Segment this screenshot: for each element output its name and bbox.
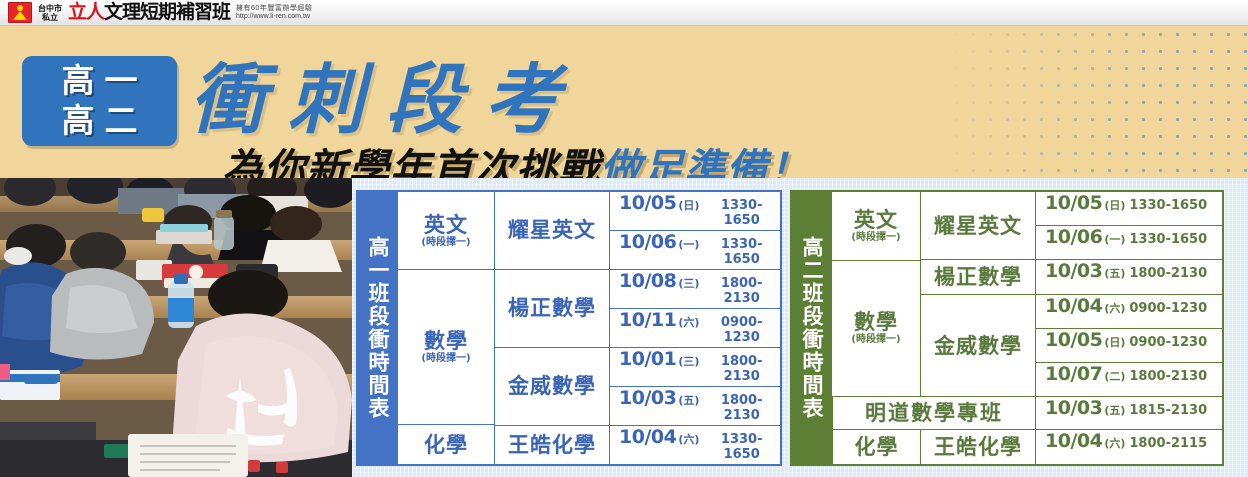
brand-tagline-block: 擁有60年豐富辦學經驗 http://www.li-ren.com.tw bbox=[236, 5, 312, 21]
page-title: 衝刺段考 bbox=[190, 54, 582, 146]
teacher-column-grade1: 耀星英文 楊正數學 金威數學 王皓化學 bbox=[494, 192, 609, 464]
time-value: 1330-1650 bbox=[1129, 232, 1207, 247]
schedule-row: 10/05 (日) 1330-1650 bbox=[609, 192, 780, 231]
subject-note: (時段擇一) bbox=[851, 334, 900, 346]
weekday-value: (六) bbox=[678, 431, 699, 447]
time-value: 1800-2130 bbox=[703, 276, 780, 306]
schedule-row: 10/01 (三) 1800-2130 bbox=[609, 348, 780, 387]
schedule-row: 10/03 (五) 1815-2130 bbox=[1035, 396, 1222, 430]
teacher-name: 耀星英文 bbox=[508, 218, 596, 242]
subject-cell: 英文 (時段擇一) bbox=[832, 192, 920, 261]
schedule-row: 10/07 (二) 1800-2130 bbox=[1035, 363, 1222, 396]
teacher-name: 耀星英文 bbox=[934, 214, 1022, 238]
subject-cell: 化學 bbox=[832, 430, 920, 464]
date-value: 10/06 bbox=[619, 231, 676, 253]
date-value: 10/07 bbox=[1045, 363, 1102, 385]
time-value: 0900-1230 bbox=[703, 315, 780, 345]
subject-name: 化學 bbox=[855, 435, 899, 459]
weekday-value: (六) bbox=[678, 314, 699, 330]
time-value: 1800-2130 bbox=[703, 354, 780, 384]
promo-poster: 台中市 私立 立人文理短期補習班 擁有60年豐富辦學經驗 http://www.… bbox=[0, 0, 1248, 477]
subject-column-grade1: 英文 (時段擇一) 數學 (時段擇一) 化學 bbox=[398, 192, 494, 464]
page-subtitle-black: 為你新學年首次挑戰 bbox=[222, 146, 600, 178]
schedule-row: 10/06 (一) 1330-1650 bbox=[1035, 226, 1222, 260]
schedule-grid-grade2: 英文 (時段擇一) 數學 (時段擇一) 耀星英文 楊正數學 bbox=[832, 192, 1222, 464]
schedule-table-grade2: 高二班段衝時間表 英文 (時段擇一) 數學 (時段擇一) bbox=[790, 190, 1224, 466]
weekday-value: (一) bbox=[678, 236, 699, 252]
schedule-row: 10/08 (三) 1800-2130 bbox=[609, 270, 780, 309]
date-value: 10/03 bbox=[1045, 260, 1102, 282]
date-value: 10/05 bbox=[619, 192, 676, 214]
weekday-value: (五) bbox=[678, 392, 699, 408]
teacher-cell: 楊正數學 bbox=[920, 260, 1035, 295]
subject-cell: 英文 (時段擇一) bbox=[398, 192, 494, 270]
teacher-cell: 金威數學 bbox=[494, 348, 609, 426]
teacher-name: 王皓化學 bbox=[934, 435, 1022, 459]
weekday-value: (日) bbox=[678, 197, 699, 213]
red-person-logo-icon bbox=[8, 2, 32, 23]
schedule-row: 10/05 (日) 1330-1650 bbox=[1035, 192, 1222, 226]
schedule-vertical-header-grade2: 高二班段衝時間表 bbox=[792, 192, 832, 464]
subject-name: 英文 bbox=[854, 208, 898, 232]
classroom-photo bbox=[0, 178, 352, 477]
subject-note: (時段擇一) bbox=[421, 237, 470, 249]
special-class-cell: 明道數學專班 bbox=[832, 396, 1035, 430]
brand-name-red: 立人 bbox=[68, 2, 104, 23]
schedule-row: 10/03 (五) 1800-2130 bbox=[1035, 260, 1222, 294]
date-value: 10/05 bbox=[1045, 329, 1102, 351]
date-value: 10/03 bbox=[619, 387, 676, 409]
time-value: 0900-1230 bbox=[1129, 335, 1207, 350]
brand-tagline: 擁有60年豐富辦學經驗 bbox=[236, 5, 312, 13]
schedule-vertical-header-grade1: 高一班段衝時間表 bbox=[358, 192, 398, 464]
schedule-row: 10/03 (五) 1800-2130 bbox=[609, 387, 780, 426]
grade-badge: 高一 高二 bbox=[22, 56, 177, 146]
date-value: 10/05 bbox=[1045, 192, 1102, 214]
date-value: 10/01 bbox=[619, 348, 676, 370]
weekday-value: (五) bbox=[1104, 265, 1125, 281]
subject-name: 數學 bbox=[424, 329, 468, 353]
grade-badge-line2: 高二 bbox=[52, 101, 148, 141]
weekday-value: (六) bbox=[1104, 435, 1125, 451]
brand-name-black: 文理短期補習班 bbox=[104, 2, 230, 23]
brand-city-block: 台中市 私立 bbox=[38, 4, 62, 22]
subject-name: 數學 bbox=[854, 310, 898, 334]
subject-name: 英文 bbox=[424, 213, 468, 237]
special-class-name: 明道數學專班 bbox=[865, 401, 1003, 425]
subject-note: (時段擇一) bbox=[851, 232, 900, 244]
time-value: 1815-2130 bbox=[1129, 403, 1207, 418]
time-value: 1330-1650 bbox=[703, 432, 780, 462]
teacher-name: 楊正數學 bbox=[508, 296, 596, 320]
schedule-grid-grade1: 英文 (時段擇一) 數學 (時段擇一) 化學 耀星英文 楊正數學 bbox=[398, 192, 780, 464]
grade-badge-line1: 高一 bbox=[52, 61, 148, 101]
schedule-table-grade1: 高一班段衝時間表 英文 (時段擇一) 數學 (時段擇一) 化學 耀星英文 bbox=[356, 190, 782, 466]
subject-note: (時段擇一) bbox=[421, 353, 470, 365]
weekday-value: (二) bbox=[1104, 368, 1125, 384]
teacher-column-grade2: 耀星英文 楊正數學 金威數學 bbox=[920, 192, 1035, 396]
weekday-value: (三) bbox=[678, 353, 699, 369]
date-value: 10/11 bbox=[619, 309, 676, 331]
page-subtitle: 為你新學年首次挑戰做足準備！ bbox=[222, 144, 810, 178]
subject-column-grade2: 英文 (時段擇一) 數學 (時段擇一) bbox=[832, 192, 920, 396]
time-value: 1800-2130 bbox=[703, 393, 780, 423]
weekday-value: (日) bbox=[1104, 197, 1125, 213]
teacher-cell: 耀星英文 bbox=[920, 192, 1035, 260]
brand-website-url[interactable]: http://www.li-ren.com.tw bbox=[236, 13, 312, 21]
teacher-name: 金威數學 bbox=[508, 374, 596, 398]
date-value: 10/06 bbox=[1045, 226, 1102, 248]
brand-city-line2: 私立 bbox=[38, 13, 62, 22]
brand-bar: 台中市 私立 立人文理短期補習班 擁有60年豐富辦學經驗 http://www.… bbox=[0, 0, 1248, 26]
page-subtitle-blue: 做足準備！ bbox=[600, 146, 810, 178]
subject-cell: 化學 bbox=[398, 425, 494, 464]
schedule-row: 10/06 (一) 1330-1650 bbox=[609, 231, 780, 270]
date-column-grade1: 10/05 (日) 1330-1650 10/06 (一) 1330-1650 … bbox=[609, 192, 780, 464]
weekday-value: (三) bbox=[678, 275, 699, 291]
weekday-value: (日) bbox=[1104, 334, 1125, 350]
time-value: 1330-1650 bbox=[703, 198, 780, 228]
schedule-row: 10/04 (六) 0900-1230 bbox=[1035, 295, 1222, 329]
teacher-cell: 金威數學 bbox=[920, 295, 1035, 396]
teacher-cell: 楊正數學 bbox=[494, 270, 609, 348]
time-value: 1330-1650 bbox=[1129, 198, 1207, 213]
schedule-row: 10/05 (日) 0900-1230 bbox=[1035, 329, 1222, 363]
time-value: 1800-2130 bbox=[1129, 369, 1207, 384]
date-value: 10/08 bbox=[619, 270, 676, 292]
time-value: 0900-1230 bbox=[1129, 301, 1207, 316]
teacher-name: 楊正數學 bbox=[934, 265, 1022, 289]
schedule-row: 10/04 (六) 1330-1650 bbox=[609, 426, 780, 464]
date-value: 10/03 bbox=[1045, 397, 1102, 419]
schedule-row: 10/11 (六) 0900-1230 bbox=[609, 309, 780, 348]
teacher-name: 金威數學 bbox=[934, 334, 1022, 358]
time-value: 1330-1650 bbox=[703, 237, 780, 267]
weekday-value: (一) bbox=[1104, 231, 1125, 247]
date-value: 10/04 bbox=[619, 426, 676, 448]
schedule-row: 10/04 (六) 1800-2115 bbox=[1035, 430, 1222, 464]
weekday-value: (五) bbox=[1104, 402, 1125, 418]
teacher-name: 王皓化學 bbox=[508, 433, 596, 457]
weekday-value: (六) bbox=[1104, 300, 1125, 316]
date-value: 10/04 bbox=[1045, 430, 1102, 452]
hero-banner: 高一 高二 衝刺段考 為你新學年首次挑戰做足準備！ bbox=[0, 26, 1248, 178]
teacher-cell: 王皓化學 bbox=[920, 430, 1035, 464]
subject-cell: 數學 (時段擇一) bbox=[398, 270, 494, 425]
subject-name: 化學 bbox=[424, 433, 468, 457]
teacher-cell: 王皓化學 bbox=[494, 426, 609, 464]
date-column-grade2: 10/05 (日) 1330-1650 10/06 (一) 1330-1650 … bbox=[1035, 192, 1222, 396]
dot-pattern-decoration bbox=[948, 26, 1248, 178]
date-value: 10/04 bbox=[1045, 295, 1102, 317]
subject-cell: 數學 (時段擇一) bbox=[832, 261, 920, 396]
time-value: 1800-2130 bbox=[1129, 266, 1207, 281]
time-value: 1800-2115 bbox=[1129, 436, 1207, 451]
teacher-cell: 耀星英文 bbox=[494, 192, 609, 270]
brand-name: 立人文理短期補習班 bbox=[68, 3, 230, 23]
brand-city-line1: 台中市 bbox=[38, 4, 62, 13]
